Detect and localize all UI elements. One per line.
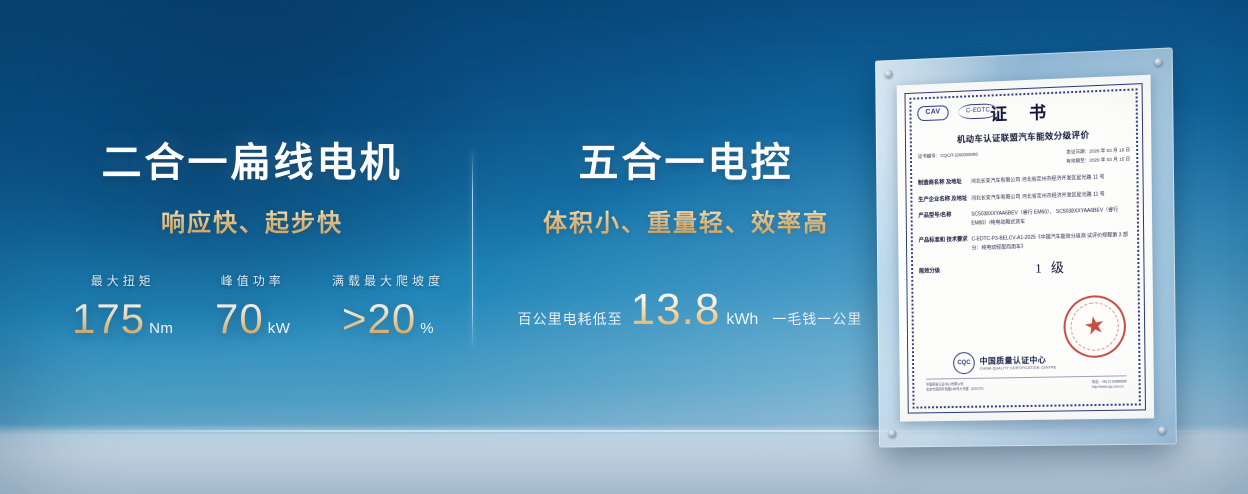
stat-torque: 最大扭矩 175 Nm xyxy=(72,272,173,340)
certificate-content: CAV C-EDTC 证 书 机动车认证联盟汽车能效分级评价 证书编号：CQC/… xyxy=(917,97,1132,401)
seal-ring xyxy=(1067,298,1123,355)
econ-tagline: 一毛钱一公里 xyxy=(772,309,862,329)
right-headline: 五合一电控 xyxy=(500,140,872,187)
left-feature-panel: 二合一扁线电机 响应快、起步快 xyxy=(72,140,432,238)
certificate-border: CAV C-EDTC 证 书 机动车认证联盟汽车能效分级评价 证书编号：CQC/… xyxy=(904,83,1146,414)
certificate-dates: 发证日期：2026 年 03 月 16 日 有效期至：2029 年 03 月 1… xyxy=(1066,146,1130,166)
left-subline: 响应快、起步快 xyxy=(72,203,432,238)
stat-value: >20 xyxy=(342,298,416,340)
right-subline: 体积小、重量轻、效率高 xyxy=(500,203,872,238)
stat-unit: % xyxy=(420,320,434,337)
promo-banner: 二合一扁线电机 响应快、起步快 最大扭矩 175 Nm 峰值功率 70 kW 满… xyxy=(0,0,1248,494)
field-value: SC5038XXYAA6BEV（睿行 EM60）、 SC5038XXYAA6BE… xyxy=(971,206,1131,228)
section-divider xyxy=(472,150,473,350)
field-key: 生产企业名称 及地址 xyxy=(918,195,971,206)
left-spec-stats: 最大扭矩 175 Nm 峰值功率 70 kW 满载最大爬坡度 >20 % xyxy=(72,272,444,340)
official-seal-icon: ★ xyxy=(1058,290,1131,363)
stat-value: 175 xyxy=(72,298,145,340)
econ-value: 13.8 xyxy=(631,288,721,332)
field-row: 产品型号/名称 SC5038XXYAA6BEV（睿行 EM60）、 SC5038… xyxy=(918,206,1131,230)
footer-address: 中国质量认证中心有限公司 北京市南四环西路188号九号楼（100070） xyxy=(926,381,986,392)
field-row: 生产企业名称 及地址 河北长安汽车有限公司 河北省定州市经济开发区星光路 11 … xyxy=(918,189,1130,205)
stat-power: 峰值功率 70 kW xyxy=(215,272,290,340)
certificate-number: 证书编号：CQC/FJ2603I0006 xyxy=(918,152,978,171)
footer-contact: 电话：+86 10 83886888 http://www.cqc.com.cn xyxy=(1092,379,1127,390)
stat-unit: kW xyxy=(268,320,291,337)
stat-label: 峰值功率 xyxy=(215,272,290,289)
field-value: C-EDTC-P3-BELCV-A1-2025《中国汽车能效分级测 试评价规程第… xyxy=(971,231,1131,253)
stat-gradeability: 满载最大爬坡度 >20 % xyxy=(332,272,444,340)
econ-prefix: 百公里电耗低至 xyxy=(518,309,623,329)
field-key: 制造商名称 及地址 xyxy=(918,178,971,189)
field-key: 产品标准和 技术要求 xyxy=(919,235,972,254)
issuer-name-cn: 中国质量认证中心 xyxy=(980,354,1057,366)
valid-until: 有效期至：2029 年 03 月 15 日 xyxy=(1066,155,1130,166)
cqc-logo-icon: CQC xyxy=(953,352,975,374)
field-key: 产品型号/名称 xyxy=(918,211,971,230)
stat-label: 最大扭矩 xyxy=(72,272,173,289)
standoff-screw-icon xyxy=(889,430,897,438)
standoff-screw-icon xyxy=(1158,426,1166,434)
field-row: 制造商名称 及地址 河北长安汽车有限公司 河北省定州市经济开发区星光路 11 号 xyxy=(918,173,1130,190)
left-headline: 二合一扁线电机 xyxy=(72,140,432,187)
field-row: 产品标准和 技术要求 C-EDTC-P3-BELCV-A1-2025《中国汽车能… xyxy=(919,231,1132,255)
certificate-meta: 证书编号：CQC/FJ2603I0006 发证日期：2026 年 03 月 16… xyxy=(918,146,1130,171)
certificate-footer: 中国质量认证中心有限公司 北京市南四环西路188号九号楼（100070） 电话：… xyxy=(926,375,1127,392)
stat-label: 满载最大爬坡度 xyxy=(332,272,444,289)
certificate-frame: CAV C-EDTC 证 书 机动车认证联盟汽车能效分级评价 证书编号：CQC/… xyxy=(875,47,1177,447)
issuer-name-en: CHINA QUALITY CERTIFICATION CENTRE xyxy=(980,365,1057,370)
energy-consumption-stat: 百公里电耗低至 13.8 kWh 一毛钱一公里 xyxy=(500,288,880,332)
field-value: 河北长安汽车有限公司 河北省定州市经济开发区星光路 11 号 xyxy=(971,189,1131,204)
right-feature-panel: 五合一电控 体积小、重量轻、效率高 xyxy=(500,140,872,238)
certificate-fields: 制造商名称 及地址 河北长安汽车有限公司 河北省定州市经济开发区星光路 11 号… xyxy=(918,173,1131,280)
stat-value: 70 xyxy=(215,298,264,340)
efficiency-grade-row: 能效分级 1 级 xyxy=(919,255,1132,280)
certificate-document: CAV C-EDTC 证 书 机动车认证联盟汽车能效分级评价 证书编号：CQC/… xyxy=(897,75,1155,422)
econ-unit: kWh xyxy=(726,311,758,329)
field-value: 河北长安汽车有限公司 河北省定州市经济开发区星光路 11 号 xyxy=(971,173,1131,188)
issuer-block: CQC 中国质量认证中心 CHINA QUALITY CERTIFICATION… xyxy=(953,350,1057,374)
certificate-subtitle: 机动车认证联盟汽车能效分级评价 xyxy=(918,127,1130,147)
grade-key: 能效分级 xyxy=(919,265,972,274)
stat-unit: Nm xyxy=(149,320,173,337)
grade-value: 1 级 xyxy=(972,255,1132,278)
